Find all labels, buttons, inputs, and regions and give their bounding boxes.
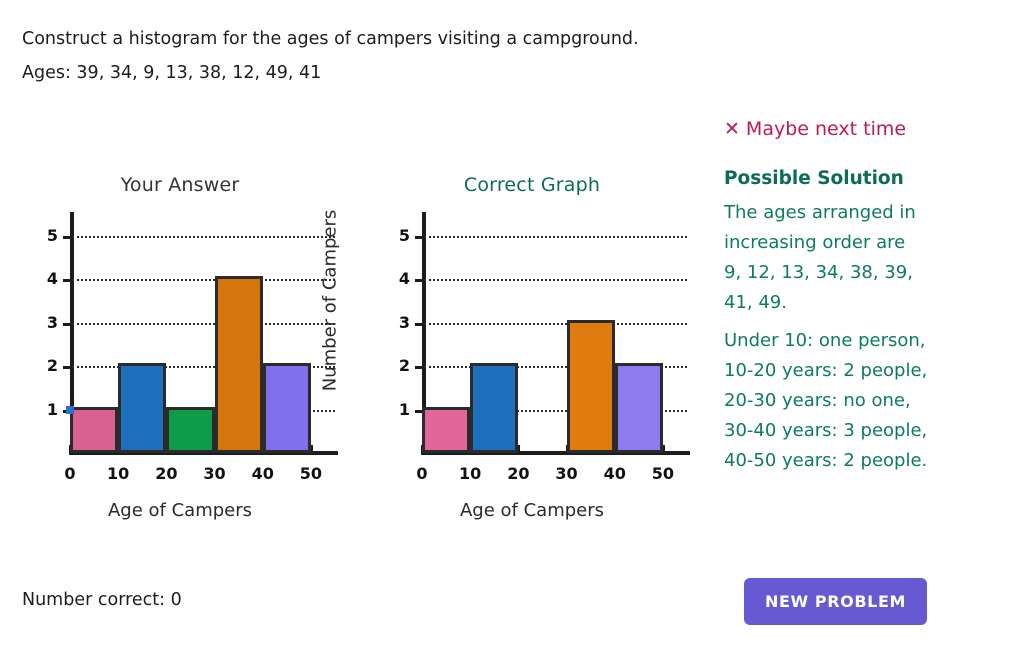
histogram-bar[interactable] <box>70 407 118 453</box>
solution-paragraph-bin-counts: Under 10: one person, 10-20 years: 2 peo… <box>724 326 1024 476</box>
histogram-bar[interactable] <box>166 407 214 453</box>
y-axis-tick <box>63 366 72 369</box>
x-axis-tick-label: 40 <box>598 464 632 483</box>
possible-solution-heading: Possible Solution <box>724 168 1024 189</box>
correct-graph-x-axis-label: Age of Campers <box>352 500 712 521</box>
score-counter: Number correct: 0 <box>22 590 182 610</box>
histogram-bar <box>422 407 470 453</box>
x-axis-tick-label: 50 <box>294 464 328 483</box>
histogram-bar <box>470 363 518 453</box>
correct-graph-plot-area: 1234501020304050 <box>422 212 687 455</box>
correct-graph-y-axis-label: Number of Campers <box>320 210 341 392</box>
x-axis-tick-label: 40 <box>246 464 280 483</box>
y-axis-tick-label: 1 <box>388 400 410 419</box>
y-axis-tick <box>63 279 72 282</box>
histogram-bar[interactable] <box>118 363 166 453</box>
y-axis-tick <box>415 279 424 282</box>
gridline <box>424 323 687 325</box>
y-axis-tick-label: 3 <box>388 313 410 332</box>
x-axis-tick-label: 20 <box>149 464 183 483</box>
y-axis-tick-label: 4 <box>388 269 410 288</box>
correct-graph-chart-title: Correct Graph <box>352 174 712 196</box>
y-axis-tick-label: 3 <box>36 313 58 332</box>
cross-icon: ✕ <box>724 118 740 140</box>
gridline <box>424 279 687 281</box>
feedback-panel: ✕Maybe next time Possible Solution The a… <box>724 118 1024 484</box>
new-problem-button[interactable]: NEW PROBLEM <box>744 578 927 625</box>
y-axis-tick-label: 2 <box>36 356 58 375</box>
x-axis-tick-label: 20 <box>501 464 535 483</box>
your-answer-chart-title: Your Answer <box>0 174 360 196</box>
y-axis-tick <box>63 236 72 239</box>
gridline <box>424 236 687 238</box>
histogram-bar[interactable] <box>263 363 311 453</box>
prompt-instruction: Construct a histogram for the ages of ca… <box>22 22 782 56</box>
x-axis-tick-label: 30 <box>198 464 232 483</box>
y-axis-tick <box>415 366 424 369</box>
x-axis-tick-label: 30 <box>550 464 584 483</box>
x-axis-tick-label: 0 <box>53 464 87 483</box>
gridline <box>72 236 335 238</box>
x-axis-tick-label: 50 <box>646 464 680 483</box>
x-axis-tick-label: 10 <box>101 464 135 483</box>
gridline <box>72 323 335 325</box>
prompt-ages-list: Ages: 39, 34, 9, 13, 38, 12, 49, 41 <box>22 56 782 90</box>
solution-paragraph-sorted-ages: The ages arranged in increasing order ar… <box>724 198 1024 318</box>
y-axis-tick-label: 2 <box>388 356 410 375</box>
histogram-bar <box>615 363 663 453</box>
y-axis-tick <box>415 236 424 239</box>
x-axis-tick-label: 0 <box>405 464 439 483</box>
histogram-bar <box>567 320 615 453</box>
gridline <box>72 279 335 281</box>
verdict-message: ✕Maybe next time <box>724 118 1024 140</box>
y-axis-tick <box>63 323 72 326</box>
y-axis-tick-label: 5 <box>388 226 410 245</box>
your-answer-x-axis-label: Age of Campers <box>0 500 360 521</box>
y-axis-tick-label: 5 <box>36 226 58 245</box>
histogram-bar[interactable] <box>215 276 263 453</box>
y-axis-tick-label: 1 <box>36 400 58 419</box>
x-axis-tick-label: 10 <box>453 464 487 483</box>
bar-drag-handle[interactable] <box>66 406 74 414</box>
y-axis-tick-label: 4 <box>36 269 58 288</box>
problem-prompt: Construct a histogram for the ages of ca… <box>22 22 782 90</box>
your-answer-plot-area[interactable]: 1234501020304050 <box>70 212 335 455</box>
y-axis-tick <box>415 323 424 326</box>
verdict-text: Maybe next time <box>746 118 906 140</box>
